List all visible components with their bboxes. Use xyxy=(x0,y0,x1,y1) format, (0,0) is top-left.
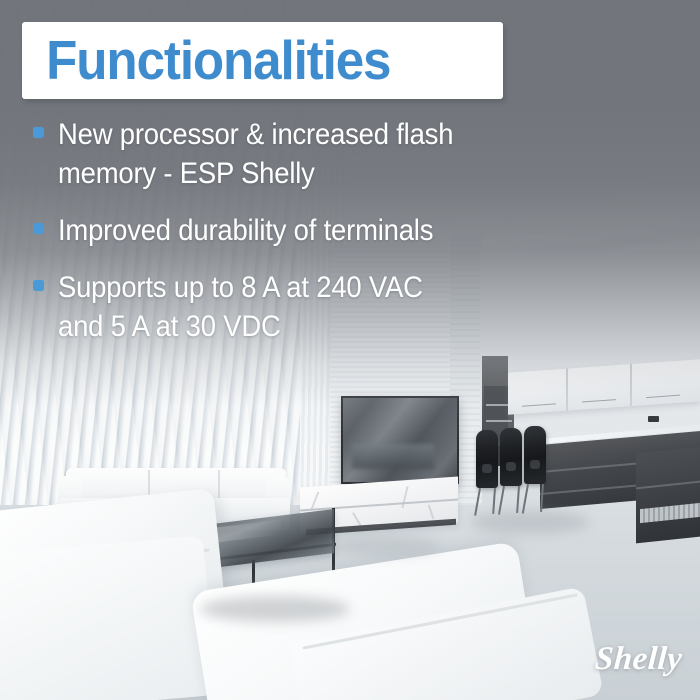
marketing-poster: Functionalities New processor & increase… xyxy=(0,0,700,700)
list-item-label: Improved durability of terminals xyxy=(58,212,433,251)
bullet-square-icon xyxy=(33,280,44,291)
title-banner: Functionalities xyxy=(22,22,503,99)
list-item: Supports up to 8 A at 240 VAC and 5 A at… xyxy=(33,269,593,347)
feature-list: New processor & increased flash memory -… xyxy=(33,116,593,365)
bullet-square-icon xyxy=(33,223,44,234)
list-item-label: New processor & increased flash memory -… xyxy=(58,116,453,194)
list-item: New processor & increased flash memory -… xyxy=(33,116,593,194)
page-title: Functionalities xyxy=(22,33,390,88)
list-item-label: Supports up to 8 A at 240 VAC and 5 A at… xyxy=(58,269,423,347)
bullet-square-icon xyxy=(33,127,44,138)
shelly-logo: Shelly xyxy=(593,641,683,678)
list-item: Improved durability of terminals xyxy=(33,212,593,251)
